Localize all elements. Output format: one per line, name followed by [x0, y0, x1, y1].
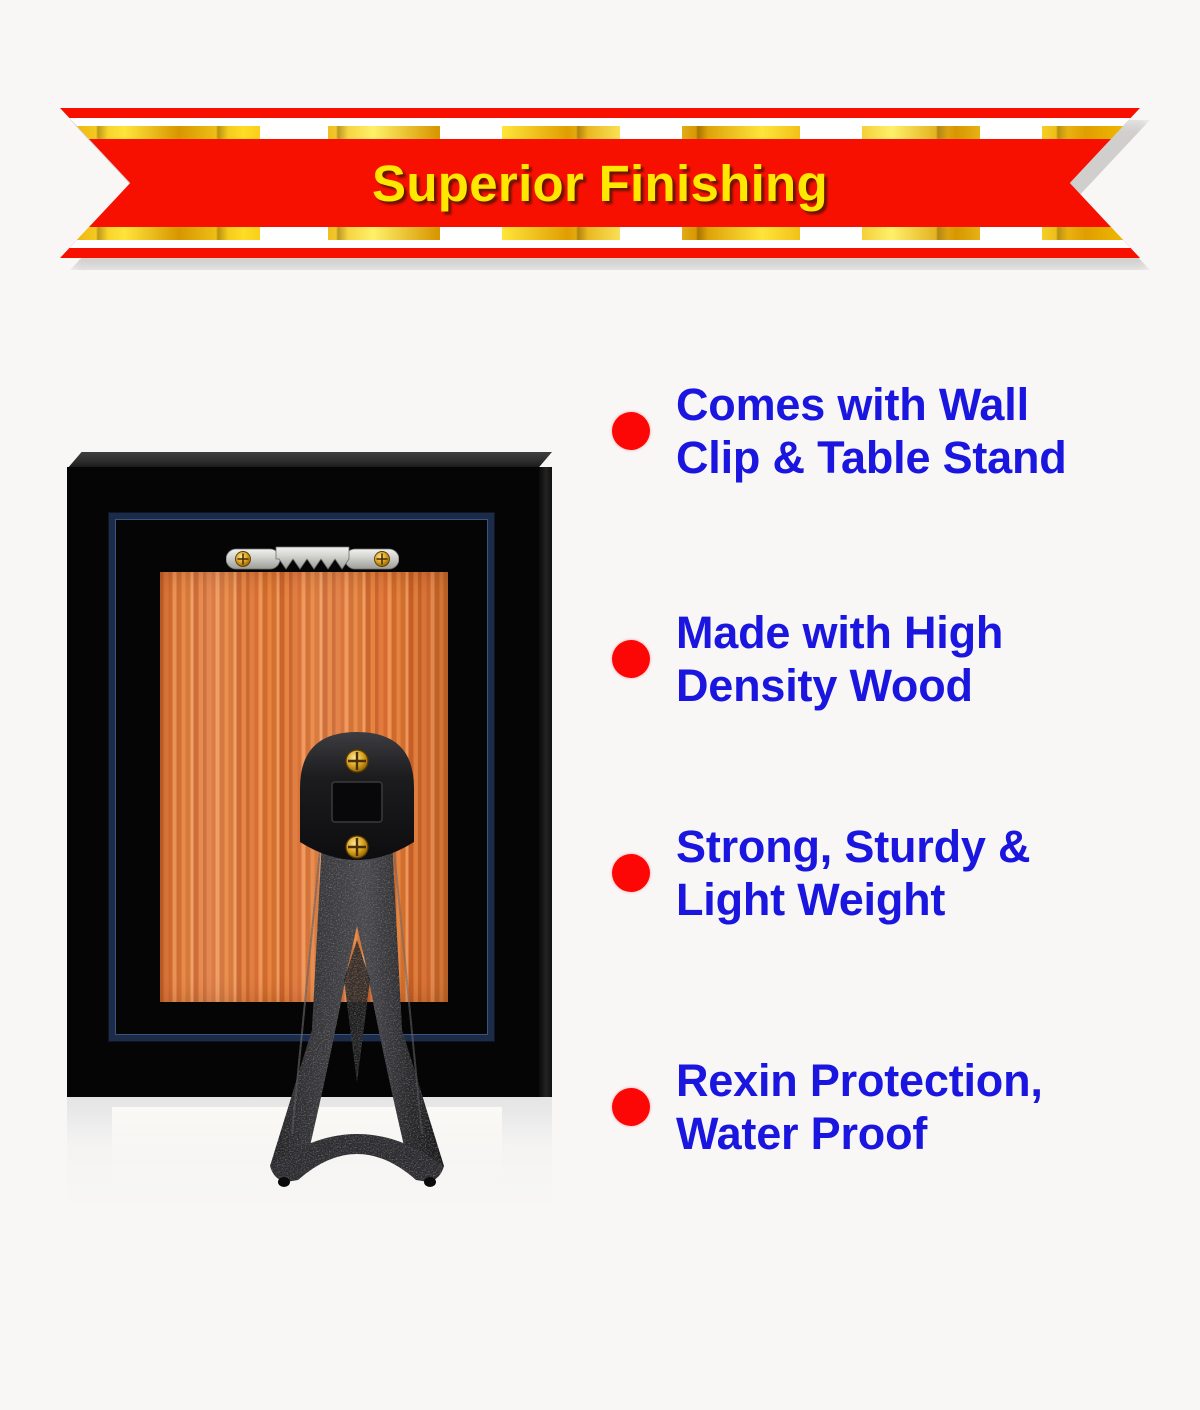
table-stand	[252, 730, 462, 1190]
product-image	[62, 452, 562, 1212]
wall-clip-icon	[226, 545, 399, 574]
bullet-dot-icon	[612, 412, 650, 450]
feature-label: Rexin Protection, Water Proof	[676, 1054, 1043, 1160]
feature-label: Made with High Density Wood	[676, 606, 1003, 712]
feature-label: Strong, Sturdy & Light Weight	[676, 820, 1030, 926]
feature-item-rexin-protection-waterproof: Rexin Protection, Water Proof	[612, 1054, 1182, 1160]
banner-title: Superior Finishing	[60, 108, 1140, 258]
feature-label: Comes with Wall Clip & Table Stand	[676, 378, 1067, 484]
feature-item-wall-clip-table-stand: Comes with Wall Clip & Table Stand	[612, 378, 1182, 484]
bullet-dot-icon	[612, 640, 650, 678]
table-stand-svg	[252, 730, 462, 1190]
feature-item-high-density-wood: Made with High Density Wood	[612, 606, 1182, 712]
feature-item-strong-sturdy-light: Strong, Sturdy & Light Weight	[612, 820, 1182, 926]
ribbon-banner: Superior Finishing	[60, 108, 1140, 258]
bullet-dot-icon	[612, 1088, 650, 1126]
wall-clip-svg	[226, 545, 399, 574]
bullet-dot-icon	[612, 854, 650, 892]
banner-region: Superior Finishing	[60, 108, 1140, 266]
feature-list: Comes with Wall Clip & Table Stand Made …	[612, 378, 1182, 1218]
plaque-side-bevel	[539, 467, 552, 1097]
